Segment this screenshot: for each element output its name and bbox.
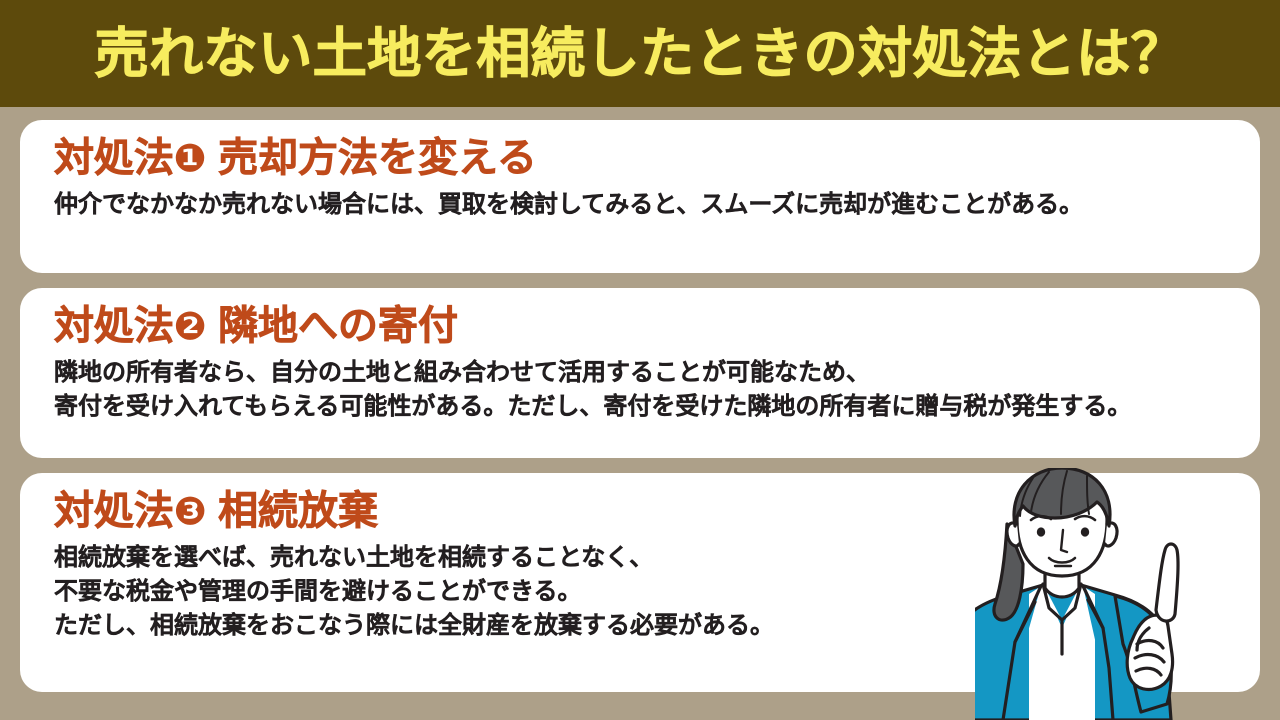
card-1-body-line-1: 仲介でなかなか売れない場合には、買取を検討してみると、スムーズに売却が進むことが… xyxy=(54,188,1230,222)
card-3-body-line-3: ただし、相続放棄をおこなう際には全財産を放棄する必要がある。 xyxy=(54,609,1230,643)
card-3-heading-text: 相続放棄 xyxy=(218,489,378,533)
page-title: 売れない土地を相続したときの対処法とは？ xyxy=(95,27,1186,81)
infographic-page: 売れない土地を相続したときの対処法とは？ 対処法❶ 売却方法を変える 仲介でなか… xyxy=(0,0,1280,720)
card-3-body-line-2: 不要な税金や管理の手間を避けることができる。 xyxy=(54,575,1230,609)
card-2-body: 隣地の所有者なら、自分の土地と組み合わせて活用することが可能なため、 寄付を受け… xyxy=(54,356,1230,424)
card-2-body-line-1: 隣地の所有者なら、自分の土地と組み合わせて活用することが可能なため、 xyxy=(54,356,1230,390)
measure-card-2: 対処法❷ 隣地への寄付 隣地の所有者なら、自分の土地と組み合わせて活用することが… xyxy=(20,288,1260,458)
card-3-heading-label: 対処法 xyxy=(54,489,174,533)
card-2-heading: 対処法❷ 隣地への寄付 xyxy=(54,305,1230,348)
card-3-heading: 対処法❸ 相続放棄 xyxy=(54,490,1230,533)
card-1-body: 仲介でなかなか売れない場合には、買取を検討してみると、スムーズに売却が進むことが… xyxy=(54,188,1230,222)
measure-card-1: 対処法❶ 売却方法を変える 仲介でなかなか売れない場合には、買取を検討してみると… xyxy=(20,120,1260,273)
card-1-heading: 対処法❶ 売却方法を変える xyxy=(54,137,1230,180)
card-1-heading-text: 売却方法を変える xyxy=(218,136,537,180)
card-3-number-badge: ❸ xyxy=(174,491,207,533)
measure-card-3: 対処法❸ 相続放棄 相続放棄を選べば、売れない土地を相続することなく、 不要な税… xyxy=(20,473,1260,692)
card-3-body: 相続放棄を選べば、売れない土地を相続することなく、 不要な税金や管理の手間を避け… xyxy=(54,541,1230,643)
card-3-body-line-1: 相続放棄を選べば、売れない土地を相続することなく、 xyxy=(54,541,1230,575)
card-1-number-badge: ❶ xyxy=(174,138,207,180)
card-2-number-badge: ❷ xyxy=(174,306,207,348)
card-1-heading-label: 対処法 xyxy=(54,136,174,180)
card-2-body-line-2: 寄付を受け入れてもらえる可能性がある。ただし、寄付を受けた隣地の所有者に贈与税が… xyxy=(54,390,1230,424)
card-2-heading-label: 対処法 xyxy=(54,304,174,348)
header-banner: 売れない土地を相続したときの対処法とは？ xyxy=(0,0,1280,107)
card-2-heading-text: 隣地への寄付 xyxy=(218,304,458,348)
